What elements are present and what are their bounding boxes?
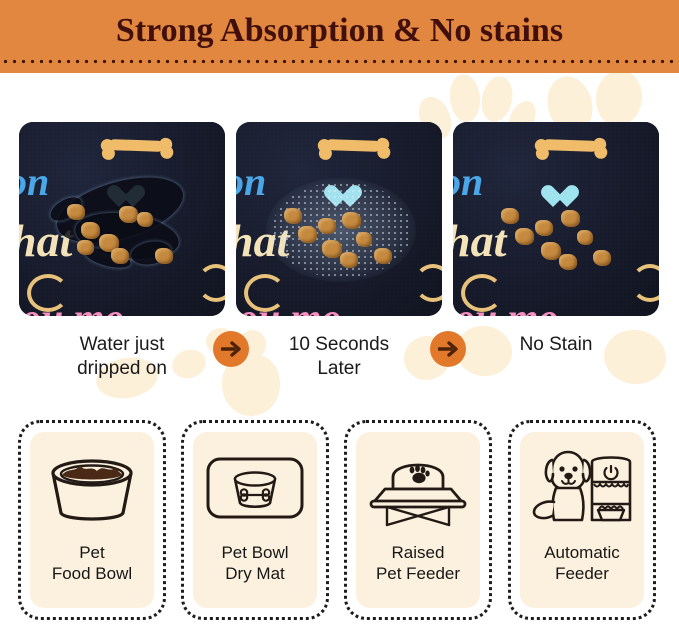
- kibble-piece: [559, 254, 577, 270]
- paw-graphic-icon: [208, 196, 225, 225]
- paw-graphic-icon: [425, 196, 442, 225]
- card-pet-food-bowl[interactable]: Pet Food Bowl: [18, 420, 166, 620]
- card-raised-pet-feeder[interactable]: Raised Pet Feeder: [344, 420, 492, 620]
- kibble-piece: [515, 228, 534, 245]
- kibble-piece: [155, 248, 173, 264]
- header-banner: Strong Absorption & No stains: [0, 0, 679, 73]
- kibble-piece: [322, 240, 342, 258]
- card-label: Pet Bowl Dry Mat: [221, 542, 288, 584]
- automatic-feeder-icon: [517, 436, 647, 540]
- kibble-piece: [81, 222, 100, 239]
- caption-no-stain: No Stain: [453, 333, 659, 357]
- card-label: Automatic Feeder: [544, 542, 620, 584]
- kibble-piece: [119, 206, 138, 223]
- kibble-piece: [501, 208, 519, 224]
- mat-text-on: on: [236, 158, 266, 205]
- card-label: Raised Pet Feeder: [376, 542, 460, 584]
- kibble-piece: [577, 230, 593, 245]
- page-title: Strong Absorption & No stains: [0, 0, 679, 62]
- mat-text-on: on: [19, 158, 49, 205]
- swirl-graphic-icon: [461, 274, 503, 312]
- demo-photo-no-stain: on hat ou mo: [453, 122, 659, 316]
- kibble-piece: [137, 212, 153, 227]
- card-pet-bowl-dry-mat[interactable]: Pet Bowl Dry Mat: [181, 420, 329, 620]
- kibble-piece: [111, 248, 129, 264]
- demo-captions: Water just dripped on 10 Seconds Later N…: [0, 333, 679, 393]
- mat-text-hat: hat: [453, 214, 506, 267]
- feature-card-row: Pet Food Bowl Pet Bowl: [0, 420, 679, 626]
- demo-photo-10-seconds: on hat ou mo: [236, 122, 442, 316]
- kibble-piece: [284, 208, 302, 224]
- pet-food-bowl-icon: [27, 436, 157, 540]
- kibble-piece: [298, 226, 317, 243]
- kibble-piece: [67, 204, 85, 220]
- kibble-piece: [593, 250, 611, 266]
- kibble-piece: [77, 240, 94, 255]
- card-automatic-feeder[interactable]: Automatic Feeder: [508, 420, 656, 620]
- mat-text-on: on: [453, 158, 483, 205]
- card-label: Pet Food Bowl: [52, 542, 132, 584]
- demo-photo-water-dripped: on hat ou mo: [19, 122, 225, 316]
- pet-bowl-dry-mat-icon: [190, 436, 320, 540]
- absorption-demo-strip: on hat ou mo on hat ou mo: [0, 118, 679, 320]
- kibble-piece: [356, 232, 372, 247]
- paw-graphic-icon: [587, 192, 643, 244]
- swirl-graphic-icon: [27, 274, 69, 312]
- kibble-piece: [318, 218, 336, 234]
- raised-pet-feeder-icon: [353, 436, 483, 540]
- kibble-piece: [340, 252, 358, 268]
- heart-graphic-icon: [541, 186, 567, 210]
- paw-graphic-icon: [642, 196, 659, 225]
- swirl-graphic-icon: [244, 274, 286, 312]
- caption-water-dripped: Water just dripped on: [19, 333, 225, 381]
- kibble-piece: [374, 248, 392, 264]
- kibble-piece: [342, 212, 361, 229]
- kibble-piece: [561, 210, 580, 227]
- kibble-piece: [535, 220, 553, 236]
- caption-10-seconds: 10 Seconds Later: [236, 333, 442, 381]
- kibble-piece: [541, 242, 561, 260]
- dotted-divider: [0, 59, 679, 64]
